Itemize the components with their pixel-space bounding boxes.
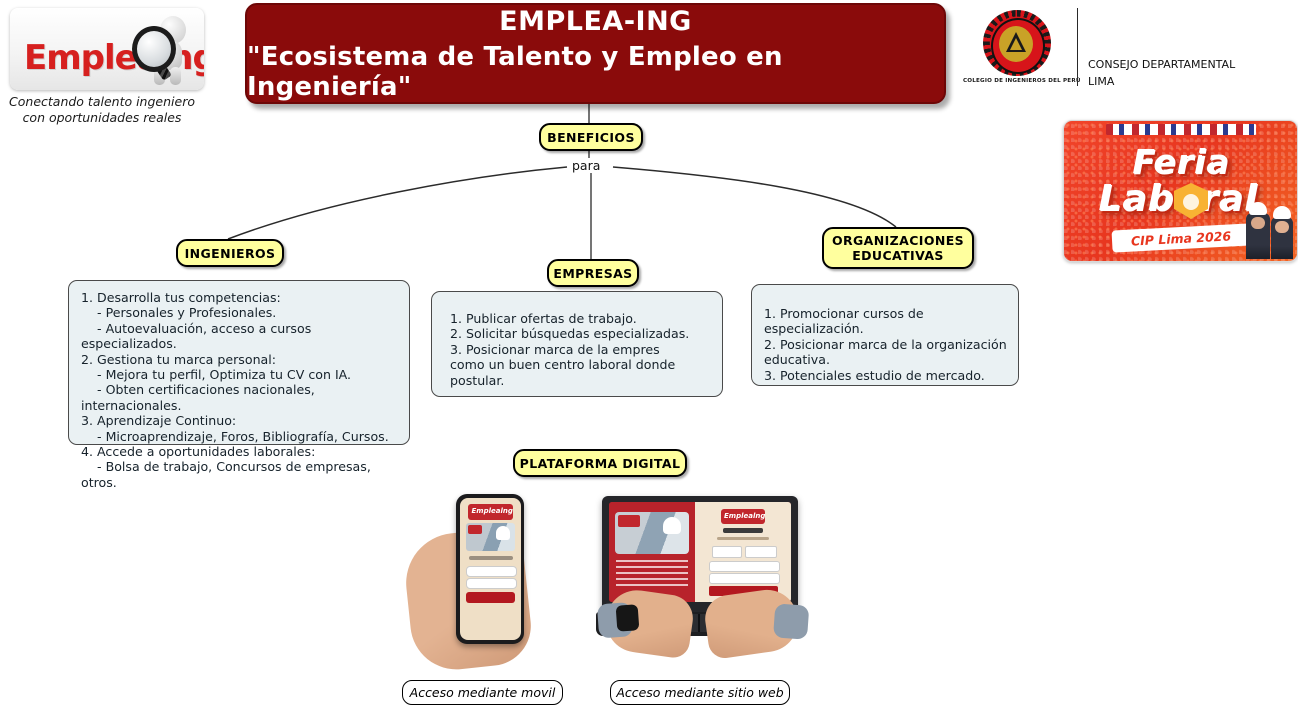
caption-acceso-web: Acceso mediante sitio web <box>610 680 790 705</box>
node-plataforma-digital[interactable]: PLATAFORMA DIGITAL <box>513 449 687 477</box>
page-title: EMPLEA-ING <box>499 6 692 37</box>
phone-form-title <box>469 556 513 560</box>
cip-branding-block: COLEGIO DE INGENIEROS DEL PERÚ CONSEJO D… <box>963 6 1263 98</box>
emplealng-logo-card: Emplealng <box>10 8 204 90</box>
hand-right-typing <box>702 586 802 660</box>
web-password-field[interactable] <box>709 573 780 584</box>
content-box-organizaciones: 1. Promocionar cursos de especialización… <box>751 284 1019 386</box>
smartwatch-icon <box>616 604 640 631</box>
content-box-ingenieros: 1. Desarrolla tus competencias: - Person… <box>68 280 410 445</box>
web-app-mockup <box>596 496 808 668</box>
phone-email-field[interactable] <box>466 566 517 577</box>
caption-acceso-movil: Acceso mediante movil <box>402 680 563 705</box>
phone-app-logo <box>468 504 513 520</box>
page-subtitle: "Ecosistema de Talento y Empleo en Ingen… <box>247 42 944 102</box>
cip-council-text: CONSEJO DEPARTAMENTAL LIMA <box>1088 56 1235 90</box>
content-box-empresas: 1. Publicar ofertas de trabajo. 2. Solic… <box>431 291 723 397</box>
phone-password-field[interactable] <box>466 578 517 589</box>
connector-label-para: para <box>569 158 603 173</box>
engineer-photo-male <box>1246 213 1270 259</box>
feria-laboral-banner[interactable]: Feria Laboral CIP Lima 2026 <box>1063 120 1298 262</box>
mobile-app-mockup <box>408 492 560 670</box>
web-app-logo <box>721 509 765 524</box>
cip-council-line2: LIMA <box>1088 73 1235 90</box>
node-empresas[interactable]: EMPRESAS <box>547 259 639 287</box>
web-welcome-title <box>723 528 763 533</box>
cip-divider <box>1077 8 1078 86</box>
web-hero-quote-text <box>616 560 688 590</box>
web-email-field[interactable] <box>709 561 780 572</box>
node-organizaciones-educativas[interactable]: ORGANIZACIONES EDUCATIVAS <box>822 227 974 269</box>
web-hero-photo <box>615 512 689 554</box>
phone-screen <box>460 498 521 640</box>
node-beneficios[interactable]: BENEFICIOS <box>539 123 643 151</box>
sponsor-logos-strip <box>1106 124 1256 135</box>
cip-council-line1: CONSEJO DEPARTAMENTAL <box>1088 56 1235 73</box>
laptop-screen <box>609 502 791 602</box>
cip-seal-icon <box>979 10 1055 82</box>
web-role-organizacion-option[interactable] <box>745 546 777 558</box>
phone-login-button[interactable] <box>466 592 515 603</box>
feria-ribbon-text: CIP Lima 2026 <box>1131 228 1232 248</box>
engineer-photo-female <box>1271 217 1293 259</box>
brand-tagline: Conectando talento ingeniero con oportun… <box>0 94 204 126</box>
page-title-banner: EMPLEA-ING "Ecosistema de Talento y Empl… <box>245 3 946 104</box>
web-role-ingeniero-option[interactable] <box>712 546 742 558</box>
web-login-panel <box>695 502 791 602</box>
phone-hero-photo <box>466 523 515 551</box>
cip-seal-caption: COLEGIO DE INGENIEROS DEL PERÚ <box>963 78 1073 84</box>
phone-device <box>456 494 524 644</box>
web-hero-panel <box>609 502 695 602</box>
node-ingenieros[interactable]: INGENIEROS <box>176 239 284 267</box>
mascot-with-magnifier-icon <box>126 12 200 88</box>
web-welcome-subtitle <box>717 537 769 540</box>
